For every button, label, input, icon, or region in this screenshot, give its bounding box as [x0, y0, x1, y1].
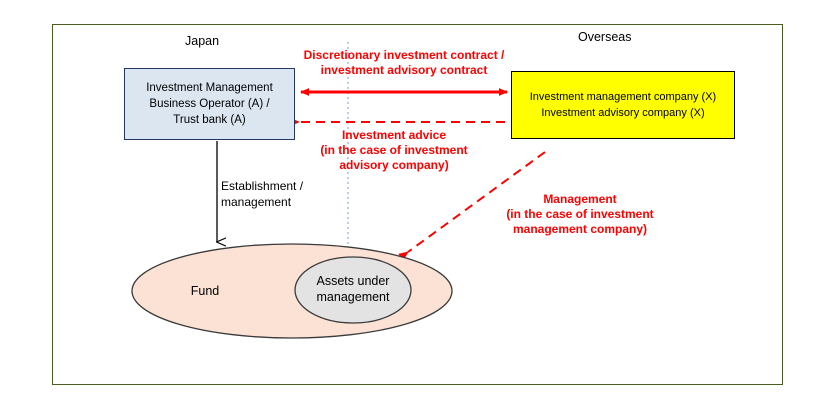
assets-under-management-label: Assets under management	[305, 273, 401, 306]
diagram-canvas: Japan Overseas	[0, 0, 819, 400]
node-domestic-operator-label: Investment Management Business Operator …	[146, 80, 273, 129]
node-domestic-operator[interactable]: Investment Management Business Operator …	[124, 68, 295, 140]
connector-label-establishment: Establishment / management	[221, 178, 331, 210]
fund-label: Fund	[155, 283, 255, 299]
node-overseas-company-label: Investment management company (X) Invest…	[530, 89, 716, 122]
node-overseas-company[interactable]: Investment management company (X) Invest…	[511, 71, 735, 139]
connector-label-management: Management (in the case of investment ma…	[470, 192, 690, 237]
connector-label-contract: Discretionary investment contract / inve…	[282, 48, 526, 78]
connector-label-advice: Investment advice (in the case of invest…	[288, 128, 500, 173]
